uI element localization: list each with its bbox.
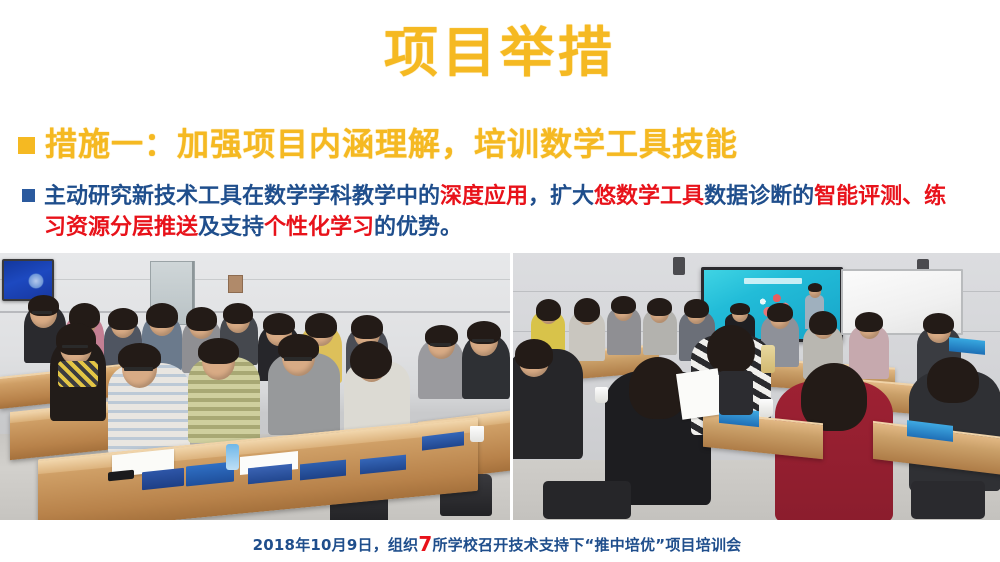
person-hair	[707, 325, 755, 373]
glasses-icon	[430, 343, 451, 346]
body-run-1: 深度应用	[440, 184, 528, 209]
body-run-8: 的优势。	[374, 215, 462, 240]
body-run-0: 主动研究新技术工具在数学学科教学中的	[44, 184, 440, 209]
glasses-icon	[284, 357, 312, 361]
glasses-icon	[62, 345, 88, 348]
person-hair	[536, 299, 561, 321]
chair	[543, 481, 631, 519]
training-room-photo-left	[0, 253, 510, 520]
person-hair	[223, 303, 253, 324]
paper-stack	[676, 368, 724, 419]
paper-cup	[595, 387, 608, 403]
slide-root: 项目举措 措施一：加强项目内涵理解，培训数学工具技能 主动研究新技术工具在数学学…	[0, 0, 1000, 562]
presenter-hair	[808, 283, 822, 292]
glasses-icon	[124, 367, 153, 371]
body-bullet-item: 主动研究新技术工具在数学学科教学中的深度应用，扩大悠数学工具数据诊断的智能评测、…	[22, 181, 962, 243]
screen-title-bar	[744, 278, 802, 284]
person-hair	[611, 296, 636, 314]
chair	[719, 371, 753, 415]
caption-prefix: 2018年10月9日，组织	[253, 536, 419, 554]
person-hair	[855, 312, 883, 332]
paper-cup	[470, 426, 484, 442]
page-title: 项目举措	[0, 22, 1000, 84]
person-hair	[730, 303, 750, 315]
caption-suffix: 所学校召开技术支持下“推中培优”项目培训会	[432, 536, 741, 554]
body-run-7: 个性化学习	[264, 215, 374, 240]
measure-heading: 措施一：加强项目内涵理解，培训数学工具技能	[18, 124, 738, 164]
person-hair	[647, 298, 672, 316]
person-hair	[767, 303, 793, 322]
person-hair	[108, 308, 138, 330]
photo-strip	[0, 253, 1000, 520]
square-bullet-icon	[18, 137, 35, 154]
body-run-3: 悠数学工具	[594, 184, 704, 209]
training-room-photo-right	[513, 253, 1000, 520]
photo-caption: 2018年10月9日，组织7所学校召开技术支持下“推中培优”项目培训会	[0, 533, 1000, 556]
paper-cup	[759, 399, 773, 417]
body-paragraph: 主动研究新技术工具在数学学科教学中的深度应用，扩大悠数学工具数据诊断的智能评测、…	[44, 181, 962, 243]
body-run-2: ，扩大	[528, 184, 594, 209]
glasses-icon	[472, 339, 494, 342]
body-run-6: 及支持	[198, 215, 264, 240]
water-bottle	[226, 444, 239, 470]
caption-school-count: 7	[418, 532, 432, 556]
person-hair	[515, 339, 553, 369]
glasses-icon	[32, 311, 52, 314]
body-run-4: 数据诊断的	[704, 184, 814, 209]
wall-seam	[0, 279, 510, 280]
water-bottle	[761, 345, 775, 373]
person-hair	[56, 323, 96, 355]
person-hair	[351, 315, 383, 339]
person-hair	[305, 313, 337, 338]
person-hair	[350, 341, 392, 379]
chair	[911, 481, 985, 519]
person-scarf	[58, 361, 98, 387]
measure-heading-label: 措施一：加强项目内涵理解，培训数学工具技能	[45, 124, 738, 164]
ceiling-speaker	[673, 257, 685, 275]
person-hair	[923, 313, 954, 334]
person-hair	[927, 357, 979, 403]
square-bullet-icon	[22, 189, 35, 202]
person-hair	[574, 298, 600, 322]
person-hair	[263, 313, 295, 335]
person-hair	[186, 307, 217, 331]
person-hair	[809, 311, 837, 335]
person-hair	[801, 363, 867, 431]
person-hair	[146, 303, 178, 328]
person-hair	[684, 299, 709, 318]
person-hair	[198, 338, 239, 364]
wall-sign	[228, 275, 243, 293]
